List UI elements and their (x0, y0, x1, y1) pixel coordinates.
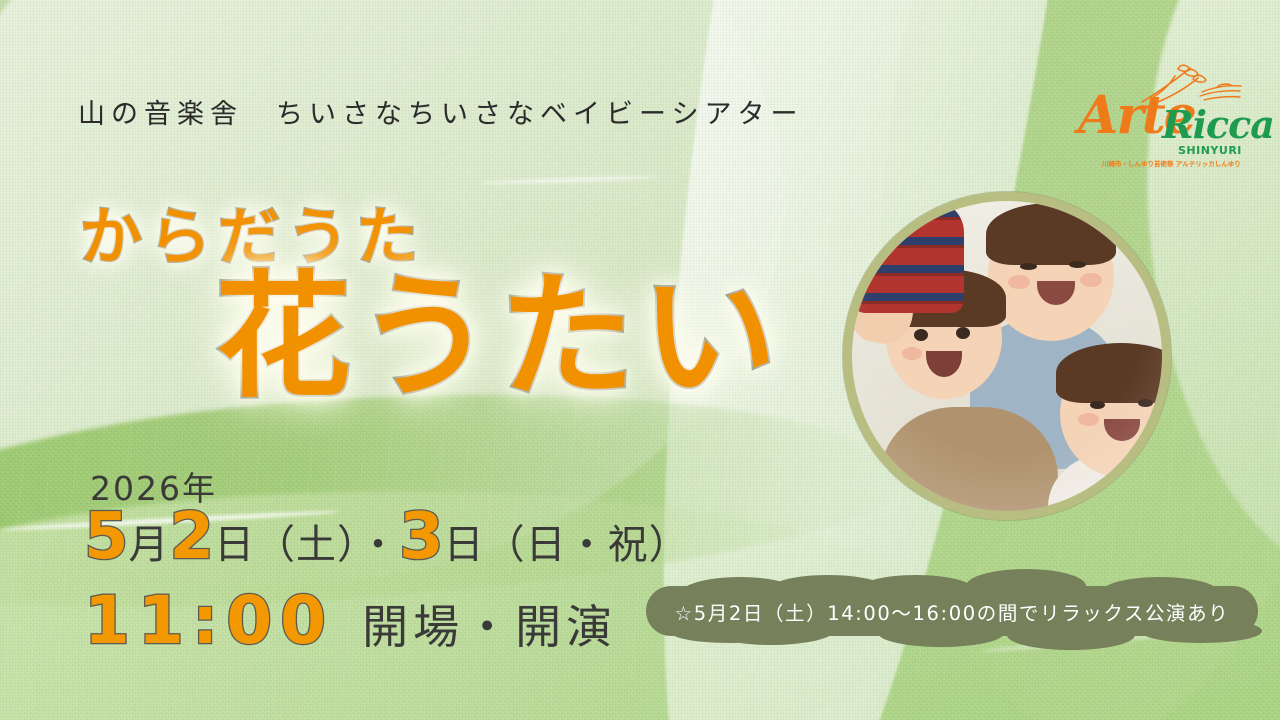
logo-ricca-text: Ricca (1162, 106, 1274, 144)
babies-photo-frame (843, 192, 1171, 520)
relax-performance-note: ☆5月2日（土）14:00〜16:00の間でリラックス公演あり (646, 586, 1258, 636)
day2-number: 3 (399, 505, 444, 569)
performance-dates: 5 月 2 日（土）・ 3 日（日・祝） (84, 505, 690, 569)
day1-label: 日（土）・ (214, 525, 399, 565)
logo-subtitle-text: 川崎市・しんゆり芸術祭 アルテリッカしんゆり (1102, 158, 1241, 168)
day2-label: 日（日・祝） (444, 525, 690, 565)
month-number: 5 (84, 505, 129, 569)
poster-canvas: 山の音楽舎 ちいさなちいさなベイビーシアター (0, 0, 1280, 720)
performance-time: 11:00 開場・開演 (84, 588, 617, 654)
month-label: 月 (129, 525, 170, 565)
logo-shinyuri-text: SHINYURI (1178, 144, 1242, 157)
page-title: 花うたい (215, 270, 783, 406)
babies-photo (852, 201, 1162, 511)
relax-performance-banner: ☆5月2日（土）14:00〜16:00の間でリラックス公演あり (646, 586, 1258, 636)
time-label: 開場・開演 (362, 604, 617, 650)
subtitle-text: 山の音楽舎 ちいさなちいさなベイビーシアター (78, 92, 803, 131)
photo-vignette (852, 201, 1162, 511)
time-value: 11:00 (84, 588, 334, 654)
arte-ricca-logo[interactable]: Arte Ricca SHINYURI 川崎市・しんゆり芸術祭 アルテリッカしん… (1070, 60, 1260, 152)
day1-number: 2 (170, 505, 215, 569)
